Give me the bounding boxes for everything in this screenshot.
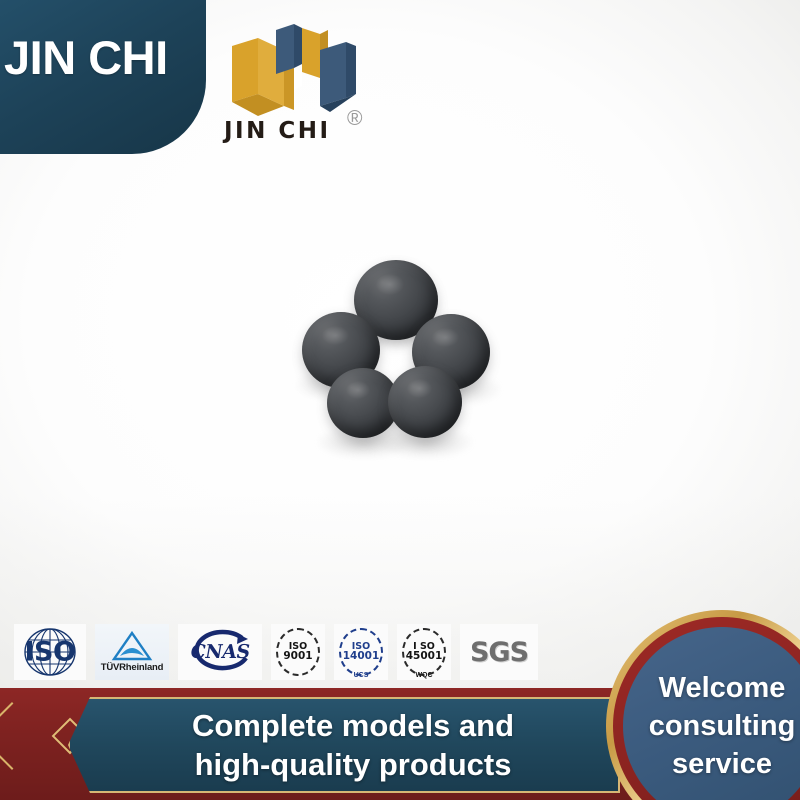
seal-ring-icon — [339, 628, 383, 676]
tagline-line-2: high-quality products — [195, 745, 512, 784]
cert-badge-sgs: SGS — [460, 624, 538, 680]
cert-badge-cnas: CNAS — [178, 624, 262, 680]
medallion-line-1: Welcome — [659, 669, 786, 707]
jinchi-logo-icon — [224, 24, 364, 116]
cert-label-tuv: TÜVRheinland — [101, 662, 164, 673]
cert-badge-iso-14001: ISO 14001 UCS — [334, 624, 388, 680]
product-marketing-image: JIN CHI JIN CHI ® — [0, 0, 800, 800]
cert-label-sgs: SGS — [470, 637, 528, 668]
seal-ring-icon — [402, 628, 446, 676]
cert-label-iso-14001-body: UCS — [354, 672, 369, 679]
medallion-line-2: consulting — [649, 707, 796, 745]
cert-badge-iso-globe: ISO — [14, 624, 86, 680]
medallion-line-3: service — [672, 745, 772, 783]
company-logo: JIN CHI ® — [206, 24, 396, 149]
brand-tag-label: JIN CHI — [4, 30, 168, 85]
tuv-triangle-icon — [110, 631, 154, 661]
tagline-text: Complete models and high-quality product… — [68, 697, 620, 793]
cert-badge-iso-9001: ISO 9001 — [271, 624, 325, 680]
medallion-red-ring: Welcome consulting service — [613, 617, 800, 800]
logo-wordmark: JIN CHI — [224, 118, 331, 144]
cert-badge-iso-45001: I SO 45001 WQC — [397, 624, 451, 680]
cert-label-cnas: CNAS — [178, 641, 262, 663]
brand-tag: JIN CHI — [0, 0, 206, 154]
cert-label-iso: ISO — [17, 637, 83, 668]
medallion-core: Welcome consulting service — [623, 627, 800, 800]
cert-badge-tuv-rheinland: TÜVRheinland — [95, 624, 169, 680]
tagline-line-1: Complete models and — [192, 706, 514, 745]
seal-ring-icon — [276, 628, 320, 676]
cert-label-iso-45001-body: WQC — [415, 672, 432, 679]
registered-trademark-icon: ® — [347, 108, 362, 129]
